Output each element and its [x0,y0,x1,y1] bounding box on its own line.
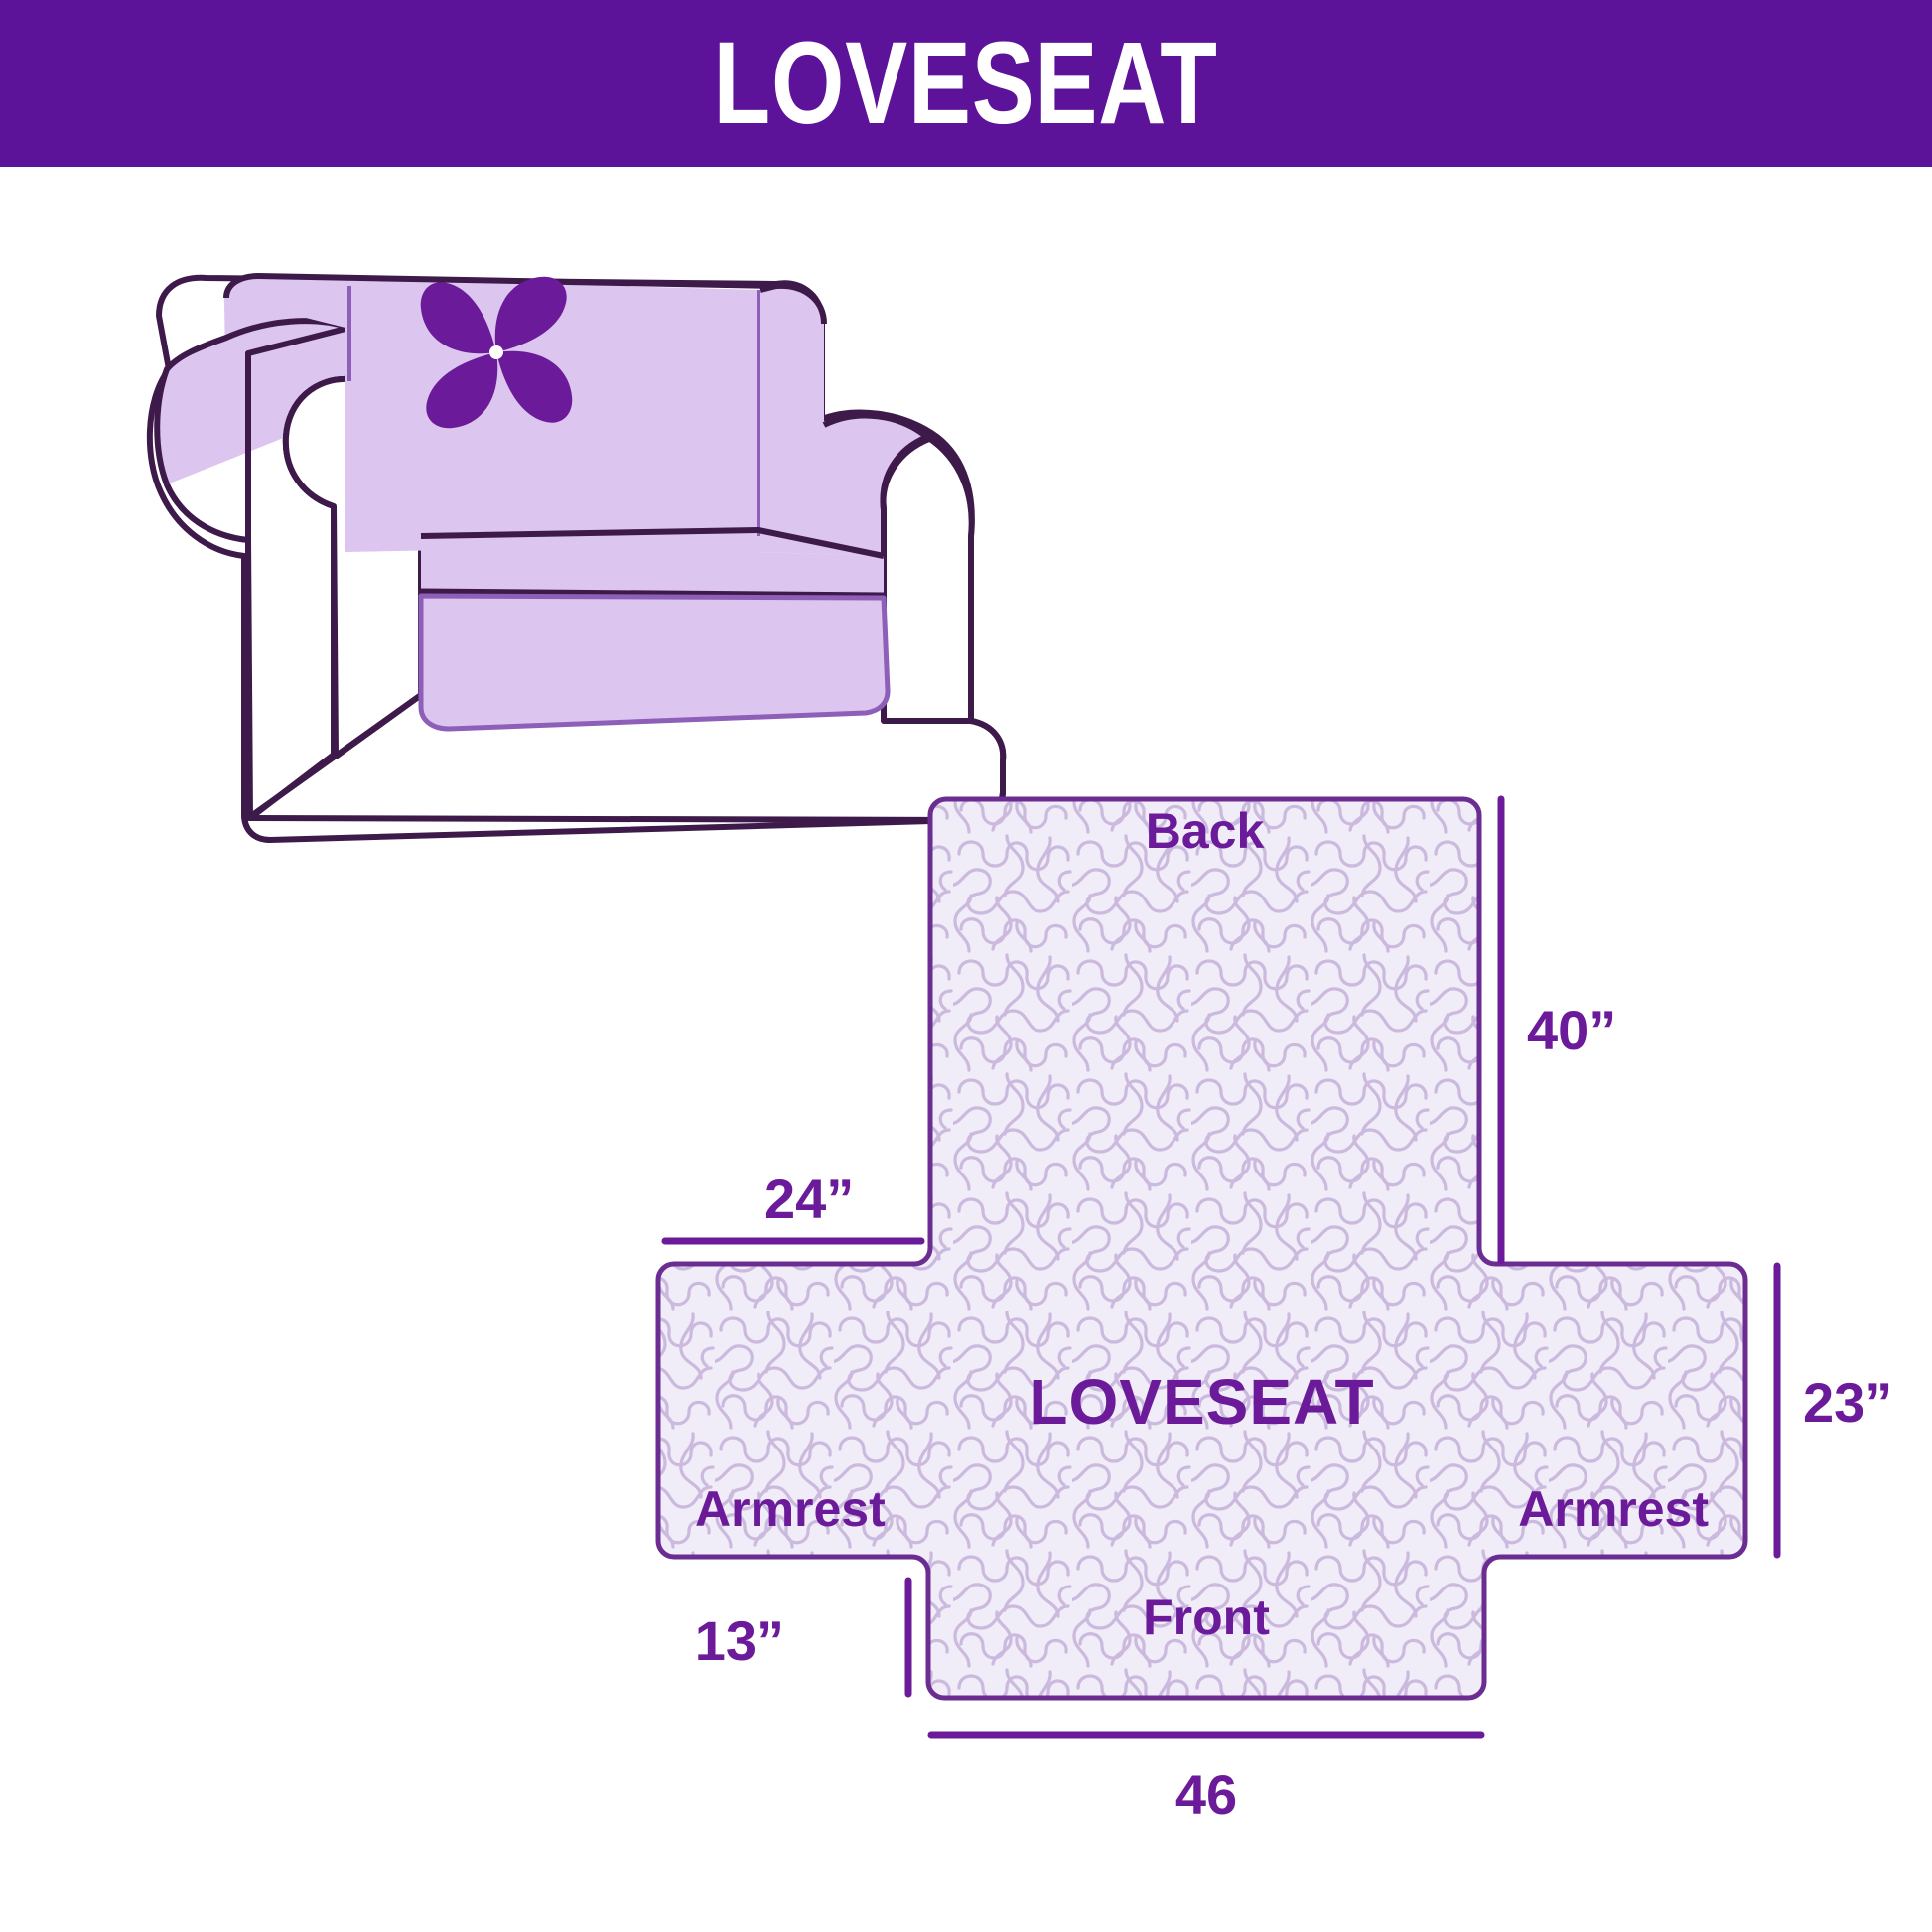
loveseat-dimension-infographic: LOVESEAT [0,0,1932,1932]
pinwheel-fan-logo [421,277,573,429]
panel-label-center: LOVESEAT [658,1370,1745,1434]
panel-label-armrest-left: Armrest [695,1484,886,1534]
header-banner: LOVESEAT [0,0,1932,167]
dimension-label-front-width: 46 [928,1767,1484,1823]
page-title: LOVESEAT [714,25,1218,142]
sofa-illustration [150,274,1003,840]
artwork-stage [0,0,1932,1932]
panel-label-armrest-right: Armrest [1518,1484,1709,1534]
dimension-label-armrest-depth: 23” [1803,1375,1892,1431]
dimension-label-front-drop: 13” [695,1613,784,1669]
panel-label-back: Back [930,806,1479,856]
dimension-label-back-offset: 24” [764,1172,854,1227]
dimension-label-back-height: 40” [1527,1003,1616,1058]
panel-label-front: Front [928,1592,1484,1642]
